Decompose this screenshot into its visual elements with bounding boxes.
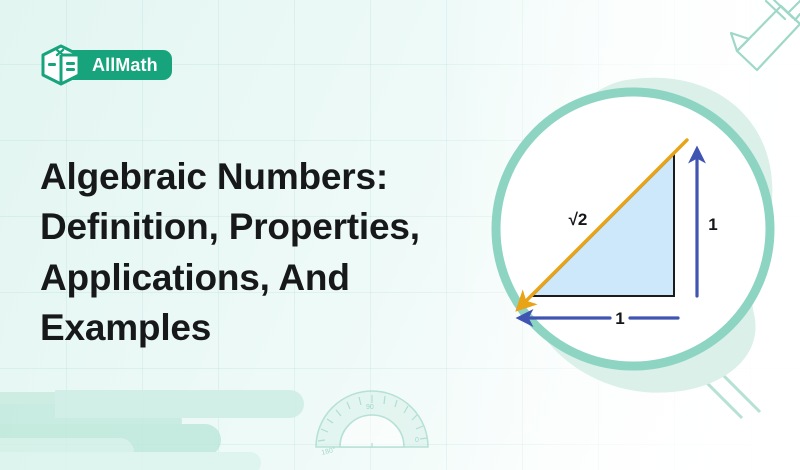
horizontal-leg-label: 1 — [615, 309, 624, 328]
title-line-3: Applications, And — [40, 253, 470, 303]
vertical-leg-label: 1 — [708, 215, 717, 234]
hero-illustration: √2 1 1 — [476, 62, 800, 398]
article-hero-banner: 180° 90 0 AllMath Algebraic Numbers: Def… — [0, 0, 800, 470]
hypotenuse-label: √2 — [569, 210, 588, 229]
title-line-4: Examples — [40, 303, 470, 353]
brand-logo[interactable]: AllMath — [40, 44, 172, 86]
brand-name: AllMath — [92, 56, 158, 74]
title-line-2: Definition, Properties, — [40, 202, 470, 252]
math-cube-icon — [40, 44, 84, 86]
page-title: Algebraic Numbers: Definition, Propertie… — [40, 152, 470, 353]
title-line-1: Algebraic Numbers: — [40, 152, 470, 202]
